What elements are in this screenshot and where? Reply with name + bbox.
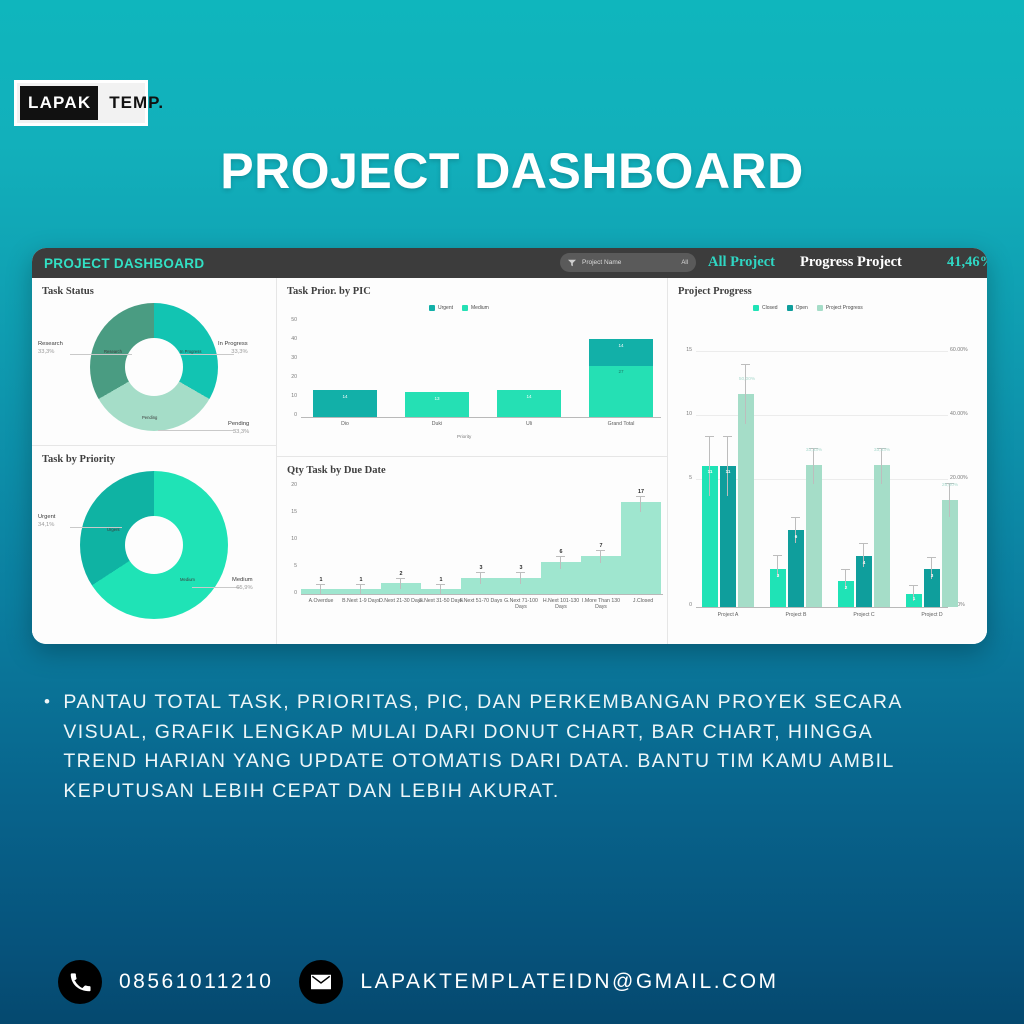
- task-status-donut-wrap: In Progress Pending Research Research 33…: [32, 297, 276, 445]
- task-by-priority-donut[interactable]: [80, 471, 228, 619]
- err-bar-d: [400, 578, 401, 589]
- pp-val-a-closed: 11: [702, 469, 718, 474]
- slicer-value[interactable]: All: [681, 260, 688, 266]
- legend-swatch-open: [787, 305, 793, 311]
- task-status-donut[interactable]: [90, 303, 218, 431]
- callout-medium-pct: 65,9%: [232, 585, 253, 593]
- dashboard-header: PROJECT DASHBOARD Project Name All All P…: [32, 248, 987, 278]
- pp-bar-d-progress[interactable]: [942, 500, 958, 607]
- phone-icon: [58, 960, 102, 1004]
- pp-errcap-b-open: [791, 517, 800, 518]
- cat-label-grand-total: Grand Total: [587, 421, 655, 427]
- pp-val-c-closed: 2: [838, 585, 854, 590]
- task-status-title: Task Status: [32, 278, 276, 297]
- callout-research-pct: 33,3%: [38, 349, 63, 357]
- pp-pct-b: 33,33%: [797, 448, 831, 453]
- callout-pending: Pending 33,3%: [228, 421, 249, 437]
- panel-qty-task-by-due-date: Qty Task by Due Date 20 15 10 5 0: [277, 456, 667, 644]
- description-block: • PANTAU TOTAL TASK, PRIORITAS, PIC, DAN…: [44, 688, 949, 807]
- pp-errcap-d-open: [927, 557, 936, 558]
- qty-ytick-15: 15: [281, 509, 297, 515]
- pp-x-axis-line: [696, 607, 948, 608]
- pp-bar-c-progress[interactable]: [874, 465, 890, 607]
- legend-item-urgent[interactable]: Urgent: [429, 305, 453, 311]
- err-bar-a: [320, 584, 321, 594]
- pp-pct-d: 25,00%: [933, 483, 967, 488]
- pp-val-d-open: 3: [924, 573, 940, 578]
- step-g-next-71-100[interactable]: [501, 578, 541, 594]
- callout-urgent-pct: 34,1%: [38, 522, 55, 530]
- step-i-more-than-130[interactable]: [581, 556, 621, 594]
- err-cap-b: [356, 584, 365, 585]
- pp-val-b-closed: 3: [770, 573, 786, 578]
- pp-cat-b: Project B: [768, 612, 824, 618]
- progress-project-value: 41,46%: [947, 254, 987, 271]
- project-progress-legend: Closed Open Project Progress: [753, 305, 863, 311]
- step-val-e: 1: [421, 577, 461, 583]
- panel-project-progress: Project Progress Closed Open: [668, 278, 987, 644]
- legend-item-project-progress[interactable]: Project Progress: [817, 305, 863, 311]
- pp-gridline-15: [696, 351, 948, 352]
- legend-item-medium[interactable]: Medium: [462, 305, 489, 311]
- dashboard-left-column: Task Status In Progress Pending Research…: [32, 278, 277, 644]
- step-val-h: 6: [541, 549, 581, 555]
- pp-bar-b-progress[interactable]: [806, 465, 822, 607]
- err-cap-g: [516, 572, 525, 573]
- panel-task-prior-by-pic: Task Prior. by PIC Urgent Medium 50: [277, 278, 667, 456]
- pp-y2tick-40: 40.00%: [950, 411, 980, 417]
- pp-val-d-closed: 1: [906, 596, 922, 601]
- pp-errcap-c-open: [859, 543, 868, 544]
- err-bar-j: [640, 496, 641, 512]
- pp-errcap-a-open: [723, 436, 732, 437]
- ytick-20: 20: [281, 374, 297, 380]
- step-d-next-21-30[interactable]: [381, 583, 421, 594]
- callout-urgent: Urgent 34,1%: [38, 514, 55, 530]
- pp-y2tick-60: 60.00%: [950, 347, 980, 353]
- legend-swatch-urgent: [429, 305, 435, 311]
- step-val-d: 2: [381, 571, 421, 577]
- pp-pct-c: 33,33%: [865, 448, 899, 453]
- bar-val-grandtotal-urgent: 14: [589, 343, 653, 348]
- qty-cat-g: G.Next 71-100 Days: [499, 598, 543, 610]
- callout-in-progress-name: In Progress: [218, 341, 248, 349]
- qty-ytick-5: 5: [281, 563, 297, 569]
- panel-task-by-priority: Task by Priority Urgent Medium Urgent 34…: [32, 445, 276, 635]
- footer-email-text: LAPAKTEMPLATEIDN@GMAIL.COM: [360, 970, 778, 994]
- bar-val-duki: 13: [405, 396, 469, 401]
- callout-medium-name: Medium: [232, 577, 253, 585]
- step-h-next-101-130[interactable]: [541, 562, 581, 594]
- qty-cat-a: A.Overdue: [297, 598, 345, 604]
- step-val-i: 7: [581, 543, 621, 549]
- qty-cat-j: J.Closed: [621, 598, 665, 604]
- footer-phone-text: 08561011210: [119, 970, 273, 994]
- x-axis-line: [301, 417, 661, 418]
- envelope-icon: [299, 960, 343, 1004]
- ytick-50: 50: [281, 317, 297, 323]
- qty-task-chart[interactable]: 20 15 10 5 0: [277, 476, 667, 644]
- cat-label-duki: Duki: [405, 421, 469, 427]
- dashboard-card: PROJECT DASHBOARD Project Name All All P…: [32, 248, 987, 644]
- err-cap-d: [396, 578, 405, 579]
- cat-label-dio: Dio: [313, 421, 377, 427]
- step-val-a: 1: [301, 577, 341, 583]
- err-cap-h: [556, 556, 565, 557]
- ytick-10: 10: [281, 393, 297, 399]
- project-progress-title: Project Progress: [668, 278, 987, 297]
- legend-item-open[interactable]: Open: [787, 305, 808, 311]
- callout-in-progress-pct: 33,3%: [218, 349, 248, 357]
- task-by-priority-donut-wrap: Urgent Medium Urgent 34,1% Medium 65,9%: [32, 465, 276, 635]
- progress-project-label: Progress Project: [800, 254, 902, 271]
- step-val-b: 1: [341, 577, 381, 583]
- pp-ytick-5: 5: [674, 475, 692, 481]
- pp-y2tick-20: 20.00%: [950, 475, 980, 481]
- qty-ytick-20: 20: [281, 482, 297, 488]
- err-cap-f: [476, 572, 485, 573]
- description-bullet: •: [44, 688, 51, 807]
- pp-bar-a-open[interactable]: [720, 466, 736, 607]
- step-val-f: 3: [461, 565, 501, 571]
- project-progress-chart[interactable]: Closed Open Project Progress: [668, 297, 987, 641]
- pp-err-a-progress: [745, 364, 746, 424]
- legend-swatch-project-progress: [817, 305, 823, 311]
- callout-pending-pct: 33,3%: [228, 429, 249, 437]
- pp-bar-a-closed[interactable]: [702, 466, 718, 607]
- pp-bar-b-open[interactable]: [788, 530, 804, 607]
- pp-err-b-open: [795, 517, 796, 543]
- legend-text-medium: Medium: [471, 305, 489, 311]
- err-bar-e: [440, 584, 441, 594]
- bar-val-grandtotal-medium: 27: [589, 369, 653, 374]
- pp-cat-d: Project D: [904, 612, 960, 618]
- project-name-slicer[interactable]: Project Name All: [560, 253, 696, 272]
- qty-x-axis-line: [301, 594, 663, 595]
- pp-gridline-10: [696, 415, 948, 416]
- pp-bar-a-progress[interactable]: [738, 394, 754, 607]
- legend-text-project-progress: Project Progress: [826, 305, 863, 311]
- err-cap-e: [436, 584, 445, 585]
- brand-logo: LAPAK TEMP.: [14, 80, 148, 126]
- filter-funnel-icon: [568, 259, 576, 267]
- qty-ytick-0: 0: [281, 590, 297, 596]
- bar-val-uli: 14: [497, 394, 561, 399]
- footer-phone-item[interactable]: 08561011210: [58, 960, 273, 1004]
- all-project-label: All Project: [708, 254, 775, 271]
- logo-lapak-text: LAPAK: [20, 86, 98, 120]
- pp-errcap-a-closed: [705, 436, 714, 437]
- pp-ytick-15: 15: [674, 347, 692, 353]
- legend-item-closed[interactable]: Closed: [753, 305, 778, 311]
- err-bar-g: [520, 572, 521, 584]
- callout-research: Research 33,3%: [38, 341, 63, 357]
- pp-val-a-open: 11: [720, 469, 736, 474]
- pp-errcap-c-closed: [841, 569, 850, 570]
- pp-val-b-open: 6: [788, 534, 804, 539]
- qty-cat-f: F.Next 51-70 Days: [457, 598, 505, 604]
- x-axis-title-priority: Priority: [457, 434, 471, 439]
- cat-label-uli: Uli: [497, 421, 561, 427]
- pp-errcap-a-progress: [741, 364, 750, 365]
- legend-text-urgent: Urgent: [438, 305, 453, 311]
- pp-err-d-progress: [949, 483, 950, 517]
- dashboard-body: Task Status In Progress Pending Research…: [32, 278, 987, 644]
- pp-ytick-0: 0: [674, 602, 692, 608]
- pp-err-a-open: [727, 436, 728, 496]
- callout-research-name: Research: [38, 341, 63, 349]
- qty-task-title: Qty Task by Due Date: [277, 457, 667, 476]
- pp-pct-a: 50,00%: [730, 377, 764, 382]
- description-text: PANTAU TOTAL TASK, PRIORITAS, PIC, DAN P…: [63, 688, 949, 807]
- err-cap-a: [316, 584, 325, 585]
- ytick-40: 40: [281, 336, 297, 342]
- panel-task-status: Task Status In Progress Pending Research…: [32, 278, 276, 445]
- page-title: PROJECT DASHBOARD: [0, 142, 1024, 200]
- ytick-30: 30: [281, 355, 297, 361]
- err-bar-i: [600, 550, 601, 563]
- legend-text-open: Open: [796, 305, 808, 311]
- pp-err-a-closed: [709, 436, 710, 496]
- legend-text-closed: Closed: [762, 305, 778, 311]
- qty-cat-i: I.More Than 130 Days: [579, 598, 623, 610]
- qty-cat-h: H.Next 101-130 Days: [539, 598, 583, 610]
- step-val-g: 3: [501, 565, 541, 571]
- leader-research: [70, 354, 132, 355]
- task-prior-by-pic-title: Task Prior. by PIC: [277, 278, 667, 297]
- pp-errcap-b-closed: [773, 555, 782, 556]
- err-bar-f: [480, 572, 481, 584]
- leader-pending: [158, 430, 234, 431]
- legend-swatch-medium: [462, 305, 468, 311]
- footer-email-item[interactable]: LAPAKTEMPLATEIDN@GMAIL.COM: [299, 960, 778, 1004]
- step-j-closed[interactable]: [621, 502, 661, 594]
- callout-medium: Medium 65,9%: [232, 577, 253, 593]
- task-prior-chart[interactable]: Urgent Medium 50 40 30 20 10 0: [277, 297, 667, 455]
- callout-urgent-name: Urgent: [38, 514, 55, 522]
- callout-pending-name: Pending: [228, 421, 249, 429]
- pp-err-b-progress: [813, 448, 814, 484]
- pp-cat-a: Project A: [700, 612, 756, 618]
- task-by-priority-title: Task by Priority: [32, 446, 276, 465]
- step-f-next-51-70[interactable]: [461, 578, 501, 594]
- qty-ytick-10: 10: [281, 536, 297, 542]
- logo-temp-text: TEMP.: [98, 86, 164, 120]
- leader-urgent: [70, 527, 122, 528]
- donut-seg-label-medium: Medium: [180, 577, 195, 582]
- pp-errcap-d-closed: [909, 585, 918, 586]
- bar-val-dio: 14: [313, 394, 377, 399]
- ytick-0: 0: [281, 412, 297, 418]
- err-cap-i: [596, 550, 605, 551]
- legend-swatch-closed: [753, 305, 759, 311]
- slicer-label: Project Name: [582, 259, 675, 266]
- pp-ytick-10: 10: [674, 411, 692, 417]
- err-bar-h: [560, 556, 561, 569]
- dashboard-middle-column: Task Prior. by PIC Urgent Medium 50: [277, 278, 668, 644]
- task-prior-legend: Urgent Medium: [429, 305, 489, 311]
- step-val-j: 17: [621, 489, 661, 495]
- donut-seg-label-pending: Pending: [142, 415, 157, 420]
- callout-in-progress: In Progress 33,3%: [218, 341, 248, 357]
- dashboard-header-title: PROJECT DASHBOARD: [44, 256, 204, 271]
- err-cap-j: [636, 496, 645, 497]
- footer-contact: 08561011210 LAPAKTEMPLATEIDN@GMAIL.COM: [58, 960, 779, 1004]
- err-bar-b: [360, 584, 361, 594]
- pp-val-c-open: 4: [856, 560, 872, 565]
- dashboard-right-column: Project Progress Closed Open: [668, 278, 987, 644]
- pp-cat-c: Project C: [836, 612, 892, 618]
- pp-err-c-progress: [881, 448, 882, 484]
